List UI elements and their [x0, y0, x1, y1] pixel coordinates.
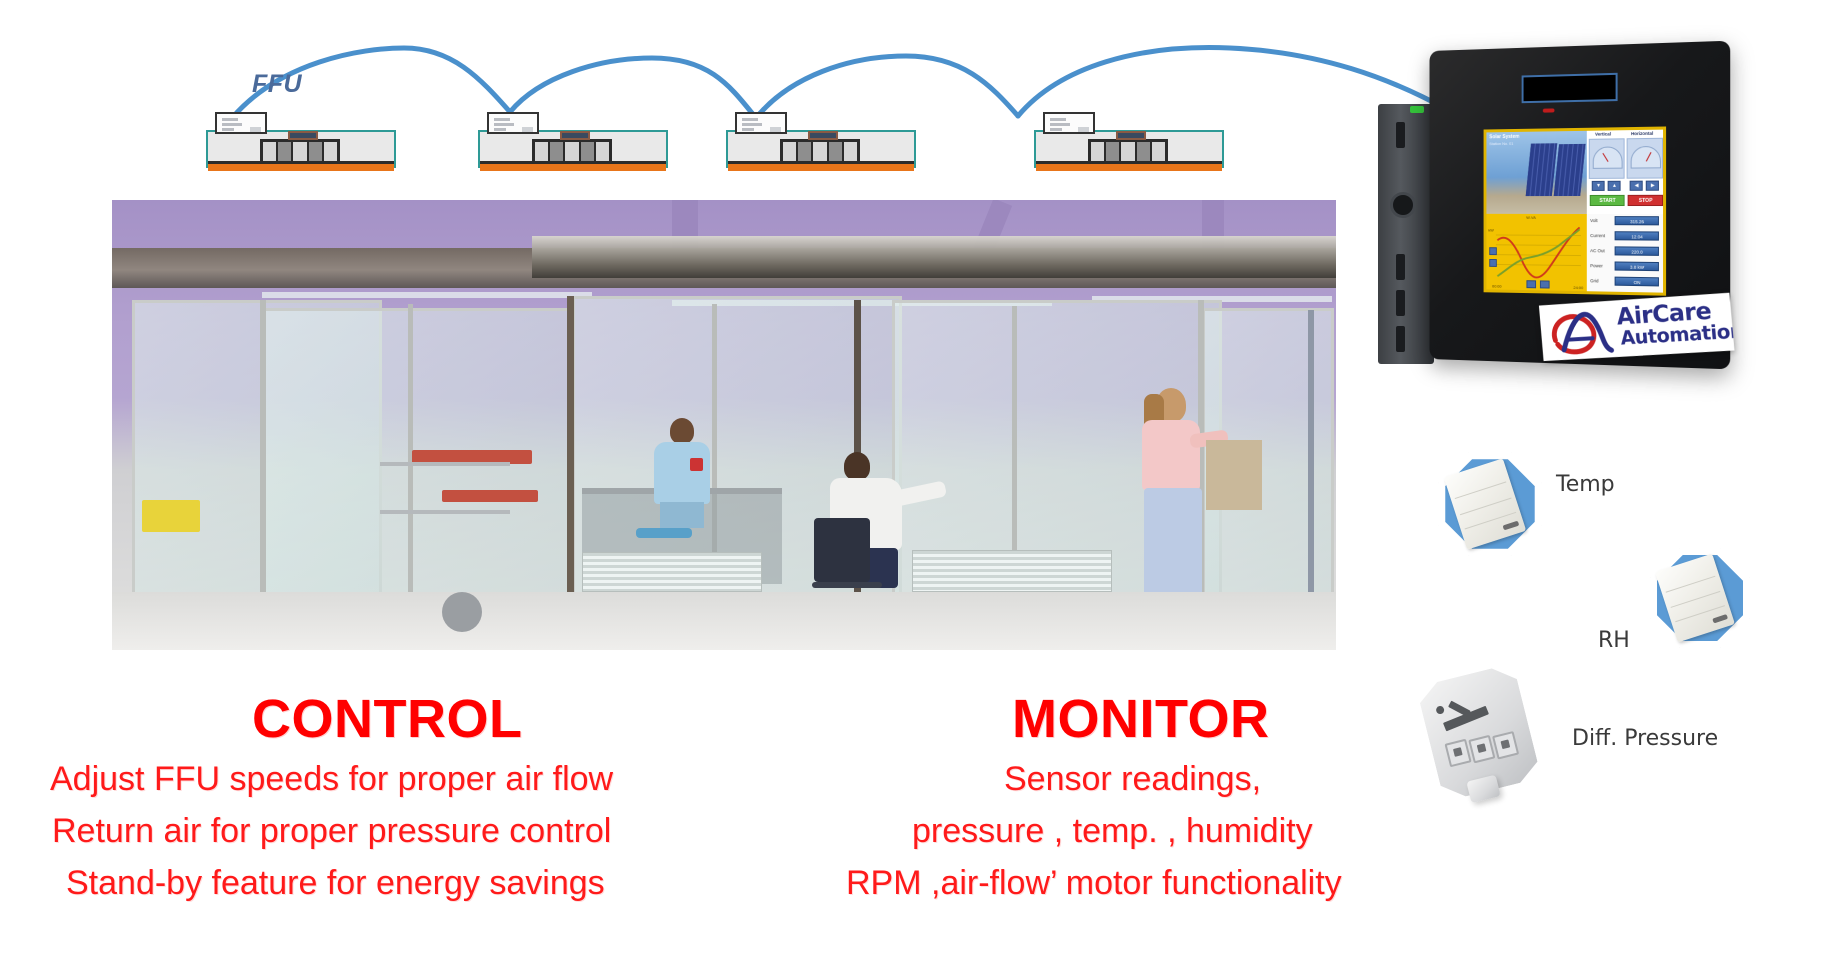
ffu-motor-cap: [1116, 131, 1146, 140]
frame-mullion: [260, 300, 266, 632]
reading-value[interactable]: 3.8 kW: [1615, 262, 1659, 272]
chart-scroll-up[interactable]: [1489, 247, 1497, 255]
ceiling-light: [262, 292, 592, 298]
ffu-unit-1[interactable]: [206, 112, 396, 170]
ffu-filter-strip: [480, 164, 666, 171]
ffu-control-panel[interactable]: [735, 112, 787, 134]
monitor-line-3: RPM ,air-flow’ motor functionality: [846, 864, 1342, 903]
floor-vent: [582, 552, 762, 592]
control-line-3: Stand-by feature for energy savings: [66, 864, 605, 903]
hmi-screen-subtitle: Station No. 01: [1489, 141, 1513, 146]
chart-scroll-down[interactable]: [1489, 259, 1497, 267]
status-led-icon: [1410, 106, 1424, 113]
reading-label: Grid: [1590, 278, 1598, 283]
reading-label: Volt: [1590, 218, 1597, 223]
carton-box: [1206, 440, 1262, 510]
hmi-gauge-panel: Vertical Horizontal ▼ ▲ ◀ ▶ START STOP: [1587, 130, 1663, 215]
control-heading: CONTROL: [252, 688, 522, 750]
rh-sensor-label: RH: [1598, 628, 1630, 653]
diff-pressure-sensor-icon: [1416, 661, 1554, 814]
monitor-line-2: pressure , temp. , humidity: [912, 812, 1313, 851]
reading-value[interactable]: 315.26: [1615, 216, 1659, 225]
stop-button[interactable]: STOP: [1628, 195, 1663, 206]
ffu-filter-strip: [1036, 164, 1222, 171]
yellow-bin: [142, 500, 200, 532]
woman-pink-shirt: [1132, 388, 1212, 618]
reading-value[interactable]: 12.04: [1615, 231, 1659, 240]
monitor-heading: MONITOR: [1012, 688, 1270, 750]
controller-io-module: [1378, 104, 1434, 364]
aircare-monogram-icon: [1543, 302, 1620, 358]
cleanroom-photo: [112, 200, 1336, 650]
worker-blue-gown: [652, 418, 712, 528]
hmi-trend-chart[interactable]: W-VA kW 00:00 24:00: [1486, 214, 1587, 291]
reading-value[interactable]: 220.0: [1615, 247, 1659, 257]
cleanroom-ceiling-panel: [532, 236, 1336, 278]
temp-sensor-icon: [1438, 452, 1542, 556]
chart-title: W-VA: [1526, 215, 1536, 220]
shoe-cover: [636, 528, 692, 538]
diff-pressure-sensor-label: Diff. Pressure: [1572, 726, 1718, 751]
chart-curves: [1486, 214, 1587, 291]
temp-sensor-label: Temp: [1556, 472, 1615, 497]
hmi-system-image: Solar System Station No. 01: [1486, 131, 1587, 214]
gauge-down-button[interactable]: ▼: [1592, 181, 1605, 191]
ffu-unit-3[interactable]: [726, 112, 916, 170]
power-led-icon: [1543, 108, 1555, 112]
reading-label: Current: [1590, 233, 1605, 238]
ffu-label: FFU: [252, 70, 302, 99]
gauge-vertical-label: Vertical: [1595, 131, 1611, 136]
gauge-left-button[interactable]: ◀: [1630, 181, 1643, 191]
shelf-rack: [380, 510, 510, 514]
ffu-filter-strip: [208, 164, 394, 171]
gauge-vertical[interactable]: [1589, 138, 1625, 179]
aircare-controller[interactable]: Solar System Station No. 01 Vertical Hor…: [1378, 46, 1728, 386]
ffu-unit-4[interactable]: [1034, 112, 1224, 170]
controller-top-display: [1522, 73, 1618, 103]
gauge-right-button[interactable]: ▶: [1646, 181, 1659, 191]
chair-base: [812, 582, 882, 588]
ffu-motor-cap: [808, 131, 838, 140]
hmi-readings-table: Volt 315.26 Current 12.04 AC Out 220.0 P…: [1587, 214, 1663, 292]
ffu-filter-strip: [728, 164, 914, 171]
hmi-touchscreen[interactable]: Solar System Station No. 01 Vertical Hor…: [1484, 126, 1666, 295]
cart-wheel: [442, 592, 482, 632]
cleanroom-enclosure: [262, 308, 572, 630]
cleanroom-floor: [112, 592, 1336, 650]
chart-ylabel: kW: [1488, 228, 1493, 233]
slide-canvas: FFU: [0, 0, 1844, 966]
frame-post: [567, 296, 574, 634]
frame-mullion: [1308, 310, 1314, 632]
reading-label: Power: [1590, 263, 1603, 268]
controller-faceplate: Solar System Station No. 01 Vertical Hor…: [1430, 41, 1731, 370]
chart-x-right: 24:00: [1573, 285, 1583, 290]
monitor-line-1: Sensor readings,: [1004, 760, 1261, 799]
shelf-rack: [380, 462, 510, 466]
floor-vent: [912, 550, 1112, 592]
rh-sensor-icon: [1650, 548, 1750, 648]
start-button[interactable]: START: [1590, 195, 1625, 206]
reading-value[interactable]: ON: [1615, 277, 1659, 287]
hmi-screen-title: Solar System: [1489, 134, 1519, 140]
gauge-up-button[interactable]: ▲: [1608, 181, 1621, 191]
controller-port[interactable]: [1390, 192, 1416, 218]
red-tray: [442, 490, 538, 502]
office-chair: [814, 518, 870, 582]
chart-prev[interactable]: [1526, 280, 1536, 288]
gauge-horizontal-label: Horizontal: [1631, 131, 1653, 136]
ffu-motor-cap: [560, 131, 590, 140]
aircare-logo: AirCare Automation: [1539, 293, 1735, 361]
ffu-control-panel[interactable]: [487, 112, 539, 134]
ffu-unit-2[interactable]: [478, 112, 668, 170]
ffu-motor-cap: [288, 131, 318, 140]
control-line-2: Return air for proper pressure control: [52, 812, 611, 851]
ffu-control-panel[interactable]: [1043, 112, 1095, 134]
control-line-1: Adjust FFU speeds for proper air flow: [50, 760, 613, 799]
chart-next[interactable]: [1540, 280, 1550, 288]
chart-x-left: 00:00: [1492, 284, 1502, 289]
reading-label: AC Out: [1590, 248, 1605, 253]
gauge-horizontal[interactable]: [1627, 138, 1663, 179]
ffu-control-panel[interactable]: [215, 112, 267, 134]
frame-mullion: [408, 304, 413, 632]
